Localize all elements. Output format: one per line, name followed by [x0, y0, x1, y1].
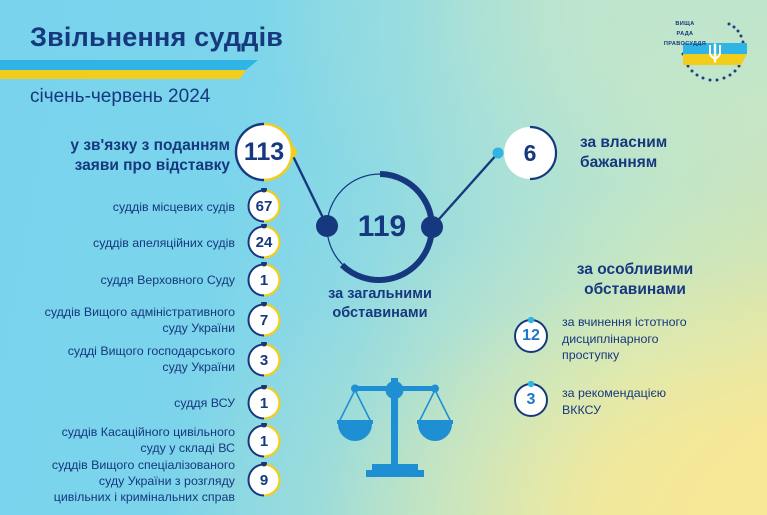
resignation-node: 113 [233, 121, 295, 183]
scales-of-justice-icon [336, 364, 454, 482]
resignation-value: 113 [233, 121, 295, 183]
logo-text-line1: ВИЩА [655, 20, 715, 30]
special-value-1: 3 [512, 381, 550, 419]
breakdown-value-5: 1 [246, 385, 282, 421]
connector-line-ownwill [432, 153, 498, 227]
special-node-0: 12 [512, 317, 550, 355]
general-circumstances-value: 119 [332, 208, 432, 246]
breakdown-label-4: судді Вищого господарського суду України [15, 344, 235, 376]
flag-stripe-divider [0, 58, 262, 80]
logo-text: ВИЩА РАДА ПРАВОСУДДЯ [655, 20, 715, 49]
breakdown-label-0: суддів місцевих судів [40, 200, 235, 216]
resignation-label: у зв'язку з поданням заяви про відставку [40, 136, 230, 176]
breakdown-node-1: 24 [246, 224, 282, 260]
breakdown-value-3: 7 [246, 302, 282, 338]
ownwill-value: 6 [501, 124, 559, 182]
logo-text-line2: РАДА [655, 30, 715, 40]
breakdown-node-3: 7 [246, 302, 282, 338]
breakdown-value-7: 9 [246, 462, 282, 498]
breakdown-value-1: 24 [246, 224, 282, 260]
connector-line-resignation [291, 152, 327, 226]
special-node-1: 3 [512, 381, 550, 419]
breakdown-node-6: 1 [246, 423, 282, 459]
special-value-0: 12 [512, 317, 550, 355]
breakdown-label-6: суддів Касаційного цивільного суду у скл… [15, 425, 235, 457]
ownwill-label-line1: за власним [580, 133, 740, 153]
breakdown-node-5: 1 [246, 385, 282, 421]
special-label-0: за вчинення істотного дисциплінарного пр… [562, 314, 762, 364]
resignation-label-line1: у зв'язку з поданням [40, 136, 230, 156]
breakdown-label-5: суддя ВСУ [40, 396, 235, 412]
organization-logo: ВИЩА РАДА ПРАВОСУДДЯ [645, 12, 755, 98]
breakdown-label-1: суддів апеляційних судів [40, 236, 235, 252]
special-heading-line1: за особливими [520, 260, 750, 280]
breakdown-label-7: суддів Вищого спеціалізованого суду Укра… [8, 458, 235, 506]
special-heading: за особливими обставинами [520, 260, 750, 300]
breakdown-value-0: 67 [246, 188, 282, 224]
breakdown-value-2: 1 [246, 262, 282, 298]
breakdown-value-4: 3 [246, 342, 282, 378]
special-heading-line2: обставинами [520, 280, 750, 300]
general-caption-line2: обставинами [320, 304, 440, 323]
ownwill-node: 6 [501, 124, 559, 182]
page-title: Звільнення суддів [30, 22, 283, 53]
infographic-page: Звільнення суддів січень-червень 2024 [0, 0, 767, 515]
breakdown-label-3: суддів Вищого адміністративного суду Укр… [15, 305, 235, 337]
breakdown-node-4: 3 [246, 342, 282, 378]
ownwill-label: за власним бажанням [580, 133, 740, 173]
logo-text-line3: ПРАВОСУДДЯ [655, 40, 715, 50]
resignation-label-line2: заяви про відставку [40, 156, 230, 176]
breakdown-node-0: 67 [246, 188, 282, 224]
special-label-1: за рекомендацією ВККСУ [562, 385, 762, 418]
breakdown-node-2: 1 [246, 262, 282, 298]
breakdown-value-6: 1 [246, 423, 282, 459]
general-caption-line1: за загальними [320, 285, 440, 304]
page-subtitle: січень-червень 2024 [30, 86, 210, 108]
ownwill-label-line2: бажанням [580, 153, 740, 173]
general-circumstances-caption: за загальними обставинами [320, 285, 440, 323]
breakdown-node-7: 9 [246, 462, 282, 498]
breakdown-label-2: суддя Верховного Суду [40, 273, 235, 289]
